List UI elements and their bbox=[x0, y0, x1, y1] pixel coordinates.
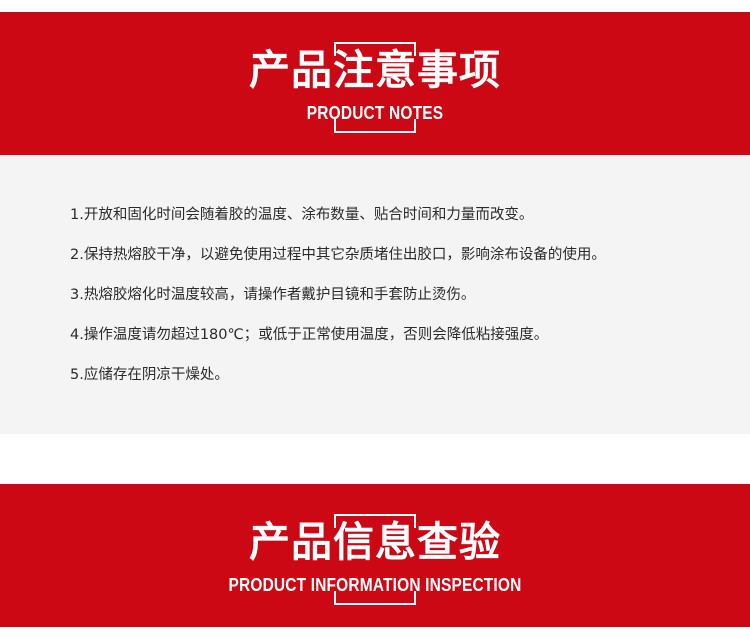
product-notes-page: 产品注意事项 PRODUCT NOTES 1.开放和固化时间会随着胶的温度、涂布… bbox=[0, 0, 750, 639]
note-item: 2.保持热熔胶干净，以避免使用过程中其它杂质堵住出胶口，影响涂布设备的使用。 bbox=[70, 245, 710, 265]
banner-inner: 产品信息查验 PRODUCT INFORMATION INSPECTION bbox=[0, 484, 750, 627]
note-item: 3.热熔胶熔化时温度较高，请操作者戴护目镜和手套防止烫伤。 bbox=[70, 285, 710, 305]
product-notes-banner: 产品注意事项 PRODUCT NOTES bbox=[0, 12, 750, 155]
product-information-inspection-title: 产品信息查验 bbox=[0, 518, 750, 566]
bracket-bottom-decoration bbox=[334, 591, 416, 605]
product-information-inspection-banner: 产品信息查验 PRODUCT INFORMATION INSPECTION bbox=[0, 484, 750, 627]
note-item: 1.开放和固化时间会随着胶的温度、涂布数量、贴合时间和力量而改变。 bbox=[70, 205, 710, 225]
note-item: 5.应储存在阴凉干燥处。 bbox=[70, 365, 710, 385]
banner-inner: 产品注意事项 PRODUCT NOTES bbox=[0, 12, 750, 155]
notes-panel: 1.开放和固化时间会随着胶的温度、涂布数量、贴合时间和力量而改变。 2.保持热熔… bbox=[0, 155, 750, 434]
bracket-bottom-decoration bbox=[334, 119, 416, 133]
product-notes-title: 产品注意事项 bbox=[0, 46, 750, 94]
note-item: 4.操作温度请勿超过180℃；或低于正常使用温度，否则会降低粘接强度。 bbox=[70, 325, 710, 345]
notes-list: 1.开放和固化时间会随着胶的温度、涂布数量、贴合时间和力量而改变。 2.保持热熔… bbox=[70, 205, 710, 385]
